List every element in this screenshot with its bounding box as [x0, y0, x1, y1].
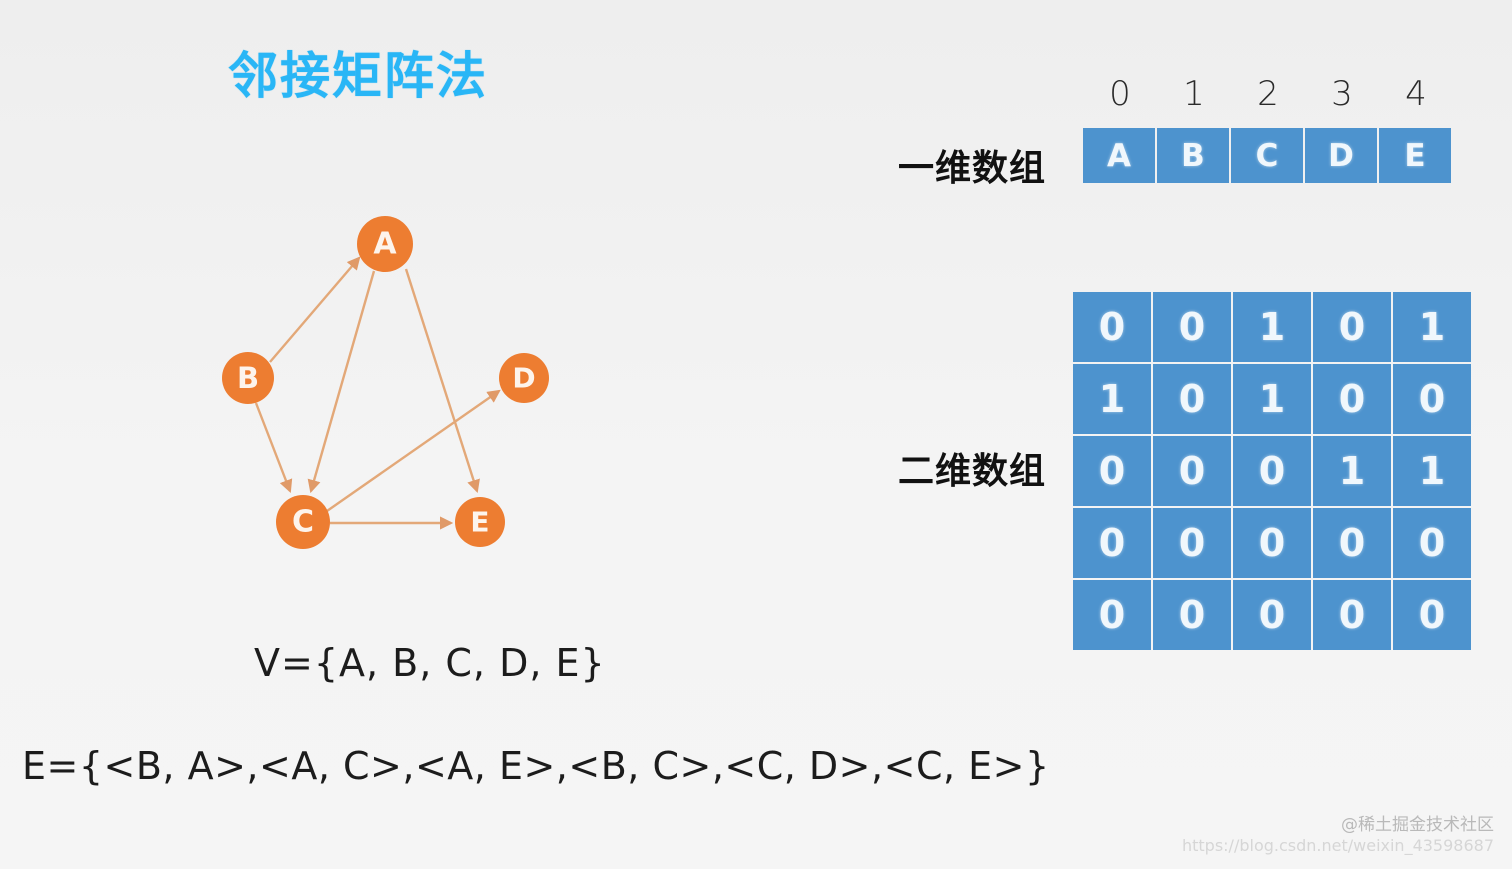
matrix-cell-4-1[interactable]: 0 [1153, 580, 1231, 650]
array-index-1: 1 [1157, 74, 1231, 114]
page-title: 邻接矩阵法 [228, 36, 488, 108]
edge-C-D [327, 391, 499, 511]
array-cell-1[interactable]: B [1157, 128, 1229, 183]
one-dimensional-array: A B C D E [1083, 128, 1451, 183]
matrix-cell-0-3[interactable]: 0 [1313, 292, 1391, 362]
graph-node-label-A: A [373, 227, 397, 262]
array-cell-4[interactable]: E [1379, 128, 1451, 183]
matrix-cell-2-1[interactable]: 0 [1153, 436, 1231, 506]
matrix-cell-2-0[interactable]: 0 [1073, 436, 1151, 506]
matrix-row: 0 0 0 0 0 [1073, 508, 1471, 578]
vertex-set-notation: V={A, B, C, D, E} [254, 641, 606, 685]
array-index-4: 4 [1379, 74, 1453, 114]
edge-B-C [256, 403, 290, 491]
graph-nodes: A B C D E [222, 216, 549, 549]
matrix-cell-0-4[interactable]: 1 [1393, 292, 1471, 362]
matrix-cell-4-2[interactable]: 0 [1233, 580, 1311, 650]
slide-canvas: 邻接矩阵法 [0, 0, 1512, 869]
matrix-cell-3-2[interactable]: 0 [1233, 508, 1311, 578]
watermark-url: https://blog.csdn.net/weixin_43598687 [1182, 837, 1494, 855]
matrix-cell-0-2[interactable]: 1 [1233, 292, 1311, 362]
watermark-brand: @稀土掘金技术社区 [1182, 816, 1494, 836]
graph-node-label-D: D [512, 362, 535, 395]
matrix-cell-3-1[interactable]: 0 [1153, 508, 1231, 578]
matrix-cell-1-3[interactable]: 0 [1313, 364, 1391, 434]
graph-node-D[interactable]: D [499, 353, 549, 403]
edge-B-A [270, 258, 359, 362]
graph-node-C[interactable]: C [276, 495, 330, 549]
matrix-cell-3-4[interactable]: 0 [1393, 508, 1471, 578]
graph-node-A[interactable]: A [357, 216, 413, 272]
matrix-cell-4-4[interactable]: 0 [1393, 580, 1471, 650]
adjacency-matrix: 0 0 1 0 1 1 0 1 0 0 0 0 0 1 1 0 0 0 0 0 [1073, 292, 1471, 650]
matrix-cell-0-0[interactable]: 0 [1073, 292, 1151, 362]
array-index-2: 2 [1231, 74, 1305, 114]
two-dimensional-array-label: 二维数组 [898, 442, 1046, 494]
edge-A-E [406, 269, 477, 491]
matrix-row: 1 0 1 0 0 [1073, 364, 1471, 434]
matrix-row: 0 0 0 1 1 [1073, 436, 1471, 506]
graph-node-B[interactable]: B [222, 352, 274, 404]
matrix-cell-1-4[interactable]: 0 [1393, 364, 1471, 434]
graph-node-label-E: E [470, 506, 489, 539]
matrix-cell-3-3[interactable]: 0 [1313, 508, 1391, 578]
matrix-row: 0 0 0 0 0 [1073, 580, 1471, 650]
matrix-row: 0 0 1 0 1 [1073, 292, 1471, 362]
watermark: @稀土掘金技术社区 https://blog.csdn.net/weixin_4… [1182, 816, 1494, 855]
matrix-cell-2-2[interactable]: 0 [1233, 436, 1311, 506]
matrix-cell-3-0[interactable]: 0 [1073, 508, 1151, 578]
matrix-cell-1-0[interactable]: 1 [1073, 364, 1151, 434]
one-dimensional-array-label: 一维数组 [898, 139, 1046, 191]
matrix-cell-2-3[interactable]: 1 [1313, 436, 1391, 506]
graph-node-E[interactable]: E [455, 497, 505, 547]
edge-set-notation: E={<B, A>,<A, C>,<A, E>,<B, C>,<C, D>,<C… [22, 744, 1050, 788]
matrix-cell-4-0[interactable]: 0 [1073, 580, 1151, 650]
array-cell-3[interactable]: D [1305, 128, 1377, 183]
matrix-cell-0-1[interactable]: 0 [1153, 292, 1231, 362]
directed-graph-figure: A B C D E [180, 190, 620, 590]
graph-edges [256, 258, 499, 523]
array-cell-0[interactable]: A [1083, 128, 1155, 183]
graph-node-label-C: C [292, 505, 314, 540]
matrix-cell-4-3[interactable]: 0 [1313, 580, 1391, 650]
graph-svg: A B C D E [180, 190, 620, 590]
array-index-row: 0 1 2 3 4 [1083, 74, 1453, 114]
matrix-cell-2-4[interactable]: 1 [1393, 436, 1471, 506]
graph-node-label-B: B [237, 361, 259, 395]
array-index-0: 0 [1083, 74, 1157, 114]
matrix-cell-1-1[interactable]: 0 [1153, 364, 1231, 434]
array-cell-2[interactable]: C [1231, 128, 1303, 183]
array-index-3: 3 [1305, 74, 1379, 114]
matrix-cell-1-2[interactable]: 1 [1233, 364, 1311, 434]
